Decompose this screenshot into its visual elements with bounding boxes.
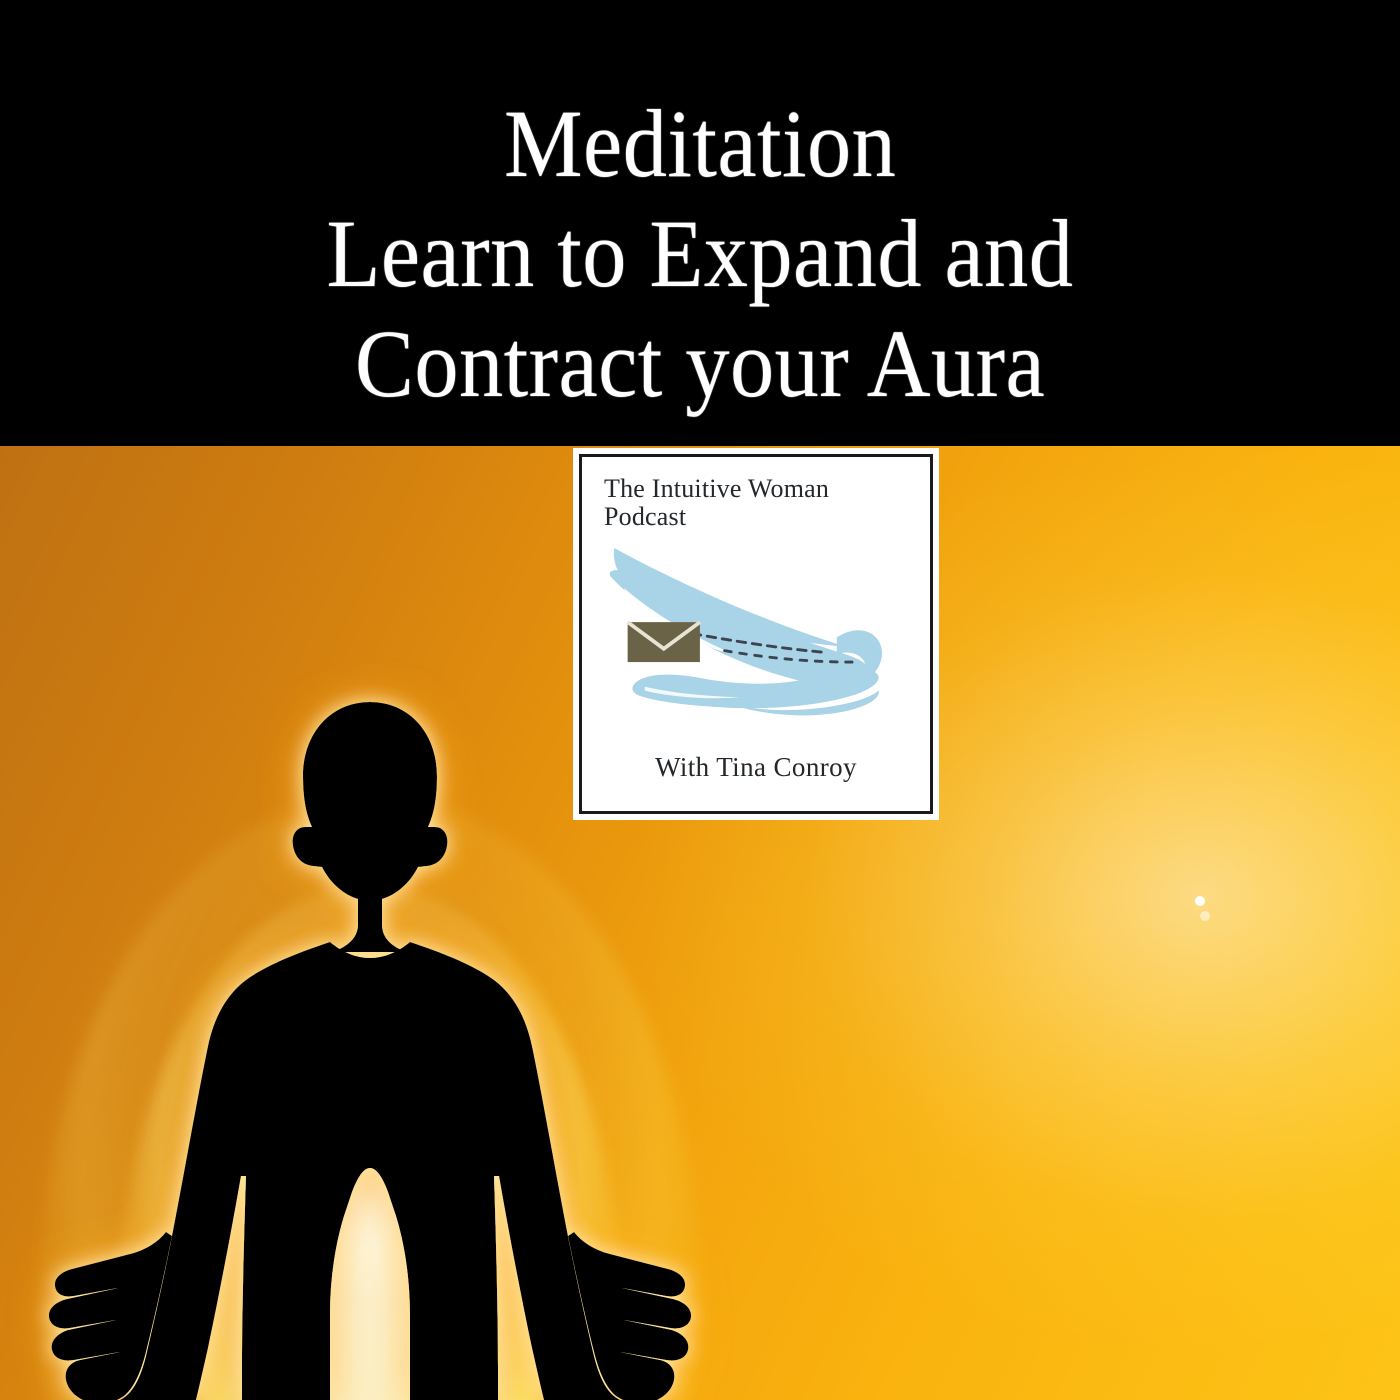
podcast-logo-card[interactable]: The Intuitive Woman Podcast bbox=[573, 448, 939, 820]
episode-title-line-1: Meditation bbox=[504, 96, 896, 192]
episode-title-line-2: Learn to Expand and bbox=[327, 206, 1074, 302]
episode-title-line-3: Contract your Aura bbox=[355, 316, 1045, 412]
flying-angel-with-envelope-icon bbox=[582, 529, 930, 759]
sun-core-icon bbox=[1195, 896, 1205, 906]
podcast-host-credit: With Tina Conroy bbox=[582, 752, 930, 783]
sun-halo-icon bbox=[1200, 911, 1210, 921]
envelope-icon bbox=[628, 622, 700, 662]
podcast-logo-frame: The Intuitive Woman Podcast bbox=[579, 454, 933, 814]
aura-head-halo bbox=[220, 986, 520, 1286]
podcast-cover-artwork: The Intuitive Woman Podcast bbox=[0, 0, 1400, 1400]
episode-title-band: Meditation Learn to Expand and Contract … bbox=[0, 0, 1400, 446]
podcast-show-title: The Intuitive Woman Podcast bbox=[604, 475, 904, 531]
